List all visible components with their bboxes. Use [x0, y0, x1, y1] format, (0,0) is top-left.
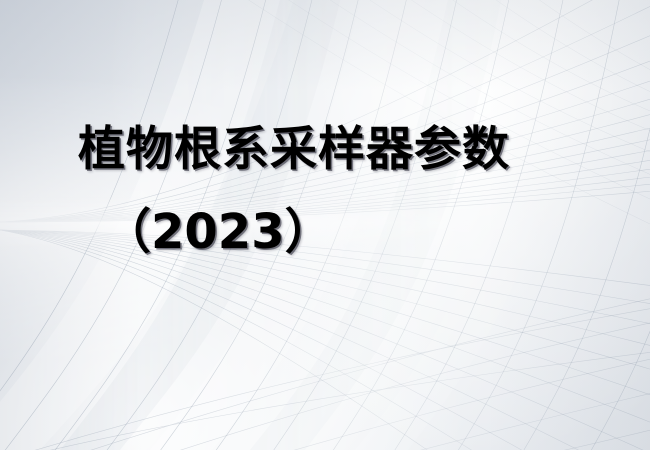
title-slide: 植物根系采样器参数 （2023） [0, 0, 650, 450]
slide-title: 植物根系采样器参数 [78, 126, 510, 173]
slide-text-block: 植物根系采样器参数 （2023） [0, 0, 650, 450]
slide-subtitle-year: （2023） [103, 208, 333, 256]
